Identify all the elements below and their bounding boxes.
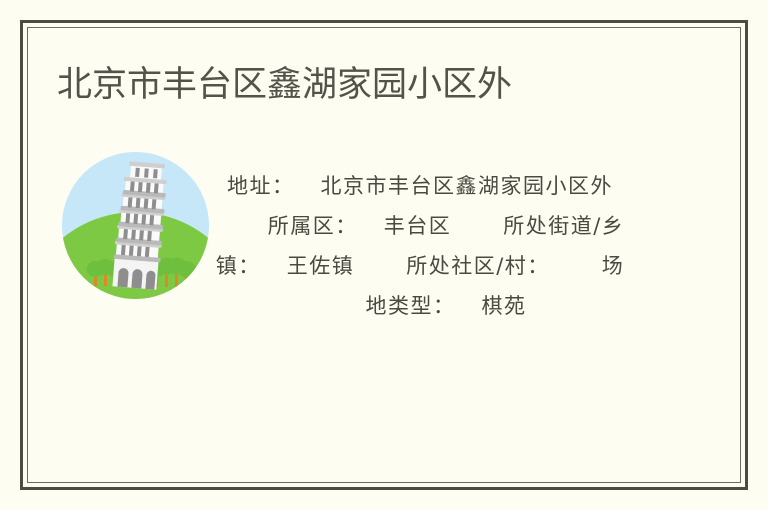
detail-value-landtype: 棋苑 xyxy=(482,294,527,318)
page-title: 北京市丰台区鑫湖家园小区外 xyxy=(57,62,697,108)
detail-value-district: 丰台区 xyxy=(384,214,452,238)
detail-value-address: 北京市丰台区鑫湖家园小区外 xyxy=(321,174,614,198)
detail-value-street: 王佐镇 xyxy=(287,254,355,278)
detail-label-community: 所处社区/村： xyxy=(406,254,550,278)
detail-value-community: 场 xyxy=(602,254,625,278)
location-details-text: 地址：北京市丰台区鑫湖家园小区外所属区：丰台区所处街道/乡镇：王佐镇所处社区/村… xyxy=(214,166,626,326)
leaning-tower-of-pisa-icon xyxy=(62,152,209,299)
detail-label-district: 所属区： xyxy=(268,214,358,238)
detail-label-address: 地址： xyxy=(227,174,295,198)
location-info-card-page: 北京市丰台区鑫湖家园小区外 xyxy=(0,0,768,510)
detail-label-landtype: 地类型： xyxy=(366,294,456,318)
